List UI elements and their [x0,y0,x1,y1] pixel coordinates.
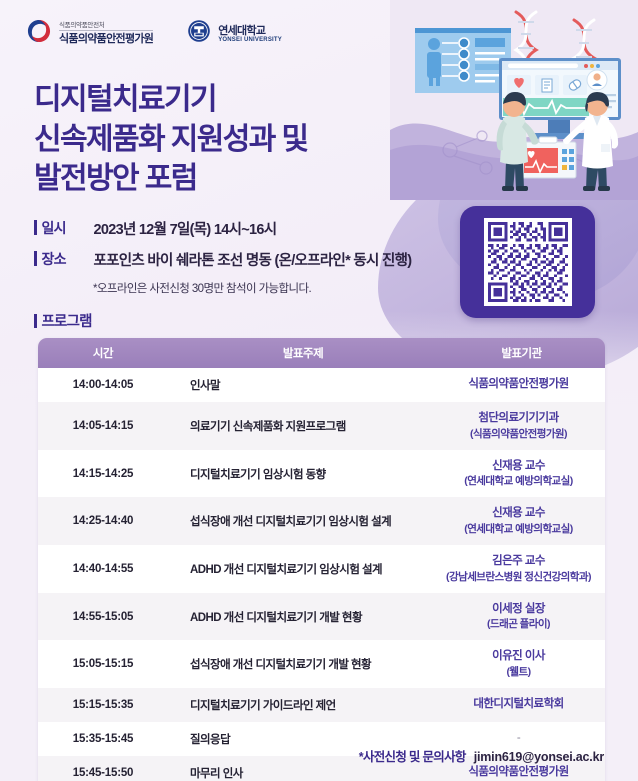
cell-org: 식품의약품안전평가원 [438,368,605,402]
taegeuk-icon [26,18,52,49]
contact-footer: *사전신청 및 문의사항 jimin619@yonsei.ac.kr [359,746,604,765]
program-heading-label: 프로그램 [42,310,92,331]
cell-org: 이세정 실장 (드래곤 플라이) [438,593,605,641]
cell-org-sub: (식품의약품안전평가원) [438,427,599,441]
forum-poster: 식품의약품안전처 식품의약품안전평가원 연세대학교 YONSEI UNIVERS… [0,0,638,781]
title-line-1: 디지털치료기기 [34,80,307,120]
cell-time: 14:55-15:05 [38,593,168,641]
yonsei-logo-entext: YONSEI UNIVERSITY [218,37,282,44]
column-header-time: 시간 [38,338,168,368]
mfds-logo-maintext: 식품의약품안전평가원 [59,31,153,45]
table-row: 14:15-14:25 디지털치료기기 임상시험 동향 신재용 교수 (연세대학… [38,450,605,498]
bullet-bar-icon [34,220,37,235]
cell-org-sub: (연세대학교 예방의학교실) [438,474,599,488]
cell-time: 15:05-15:15 [38,640,168,688]
program-heading: 프로그램 [34,310,92,331]
cell-org-sub: (드래곤 플라이) [438,617,599,631]
cell-topic: 디지털치료기기 임상시험 동향 [168,450,438,498]
program-table: 시간 발표주제 발표기관 14:00-14:05 인사말 식품의약품안전평가원 … [38,338,605,781]
cell-topic: ADHD 개선 디지털치료기기 개발 현황 [168,593,438,641]
cell-org-sub: (강남세브란스병원 정신건강의학과) [438,570,599,584]
cell-org: 김은주 교수 (강남세브란스병원 정신건강의학과) [438,545,605,593]
cell-time: 14:25-14:40 [38,497,168,545]
event-venue-value: 포포인츠 바이 쉐라톤 조선 명동 (온/오프라인* 동시 진행) [94,249,412,270]
cell-org-main: - [517,732,520,744]
program-table-body: 14:00-14:05 인사말 식품의약품안전평가원 14:05-14:15 의… [38,368,605,781]
table-row: 14:05-14:15 의료기기 신속제품화 지원프로그램 첨단의료기기기과 (… [38,402,605,450]
bullet-bar-icon [34,251,37,266]
column-header-org: 발표기관 [438,338,605,368]
cell-topic: 디지털치료기기 가이드라인 제언 [168,688,438,722]
cell-time: 14:05-14:15 [38,402,168,450]
cell-org-sub: (웰트) [438,665,599,679]
cell-time: 15:45-15:50 [38,756,168,781]
cell-org-sub: (연세대학교 예방의학교실) [438,522,599,536]
contact-email[interactable]: jimin619@yonsei.ac.kr [474,750,604,764]
column-header-topic: 발표주제 [168,338,438,368]
cell-org: 첨단의료기기기과 (식품의약품안전평가원) [438,402,605,450]
mfds-logo: 식품의약품안전처 식품의약품안전평가원 [26,18,153,49]
yonsei-logo: 연세대학교 YONSEI UNIVERSITY [187,19,282,48]
logo-bar: 식품의약품안전처 식품의약품안전평가원 연세대학교 YONSEI UNIVERS… [26,18,282,49]
yonsei-logo-maintext: 연세대학교 [218,23,282,37]
cell-topic: 섭식장애 개선 디지털치료기기 개발 현황 [168,640,438,688]
cell-org-main: 대한디지털치료학회 [473,698,563,710]
table-row: 14:40-14:55 ADHD 개선 디지털치료기기 임상시험 설계 김은주 … [38,545,605,593]
table-row: 14:25-14:40 섭식장애 개선 디지털치료기기 임상시험 설계 신재용 … [38,497,605,545]
table-header-row: 시간 발표주제 발표기관 [38,338,605,368]
cell-topic: ADHD 개선 디지털치료기기 임상시험 설계 [168,545,438,593]
cell-org-main: 식품의약품안전평가원 [468,766,568,778]
cell-org-main: 이세정 실장 [492,603,545,615]
cell-org-main: 첨단의료기기기과 [478,412,558,424]
title-line-2: 신속제품화 지원성과 및 [34,120,307,160]
event-date-label: 일시 [42,218,94,238]
digital-healthcare-illustration [390,0,638,200]
cell-org-main: 이유진 이사 [492,650,545,662]
table-row: 14:00-14:05 인사말 식품의약품안전평가원 [38,368,605,402]
yonsei-shield-icon [187,19,211,48]
title-line-3: 발전방안 포럼 [34,159,307,199]
cell-time: 15:15-15:35 [38,688,168,722]
cell-topic: 의료기기 신속제품화 지원프로그램 [168,402,438,450]
qr-code-image [484,218,572,306]
contact-label: *사전신청 및 문의사항 [359,746,466,765]
table-row: 15:15-15:35 디지털치료기기 가이드라인 제언 대한디지털치료학회 [38,688,605,722]
cell-org-main: 김은주 교수 [492,555,545,567]
cell-time: 14:40-14:55 [38,545,168,593]
cell-topic: 섭식장애 개선 디지털치료기기 임상시험 설계 [168,497,438,545]
event-venue-row: 장소 포포인츠 바이 쉐라톤 조선 명동 (온/오프라인* 동시 진행) [34,249,411,270]
event-venue-label: 장소 [42,249,94,269]
cell-org: 신재용 교수 (연세대학교 예방의학교실) [438,497,605,545]
cell-org-main: 신재용 교수 [492,460,545,472]
table-row: 14:55-15:05 ADHD 개선 디지털치료기기 개발 현황 이세정 실장… [38,593,605,641]
event-date-value: 2023년 12월 7일(목) 14시~16시 [94,218,277,239]
cell-org: 대한디지털치료학회 [438,688,605,722]
cell-time: 14:15-14:25 [38,450,168,498]
cell-org: 신재용 교수 (연세대학교 예방의학교실) [438,450,605,498]
event-note: *오프라인은 사전신청 30명만 참석이 가능합니다. [93,280,411,296]
cell-org: 이유진 이사 (웰트) [438,640,605,688]
registration-qr-code[interactable] [460,206,595,318]
event-date-row: 일시 2023년 12월 7일(목) 14시~16시 [34,218,411,239]
mfds-logo-subtext: 식품의약품안전처 [59,22,153,32]
cell-topic: 인사말 [168,368,438,402]
event-info: 일시 2023년 12월 7일(목) 14시~16시 장소 포포인츠 바이 쉐라… [34,218,411,296]
table-row: 15:05-15:15 섭식장애 개선 디지털치료기기 개발 현황 이유진 이사… [38,640,605,688]
bullet-bar-icon [34,314,37,328]
cell-org-main: 신재용 교수 [492,507,545,519]
cell-org-main: 식품의약품안전평가원 [468,378,568,390]
cell-time: 14:00-14:05 [38,368,168,402]
cell-time: 15:35-15:45 [38,722,168,756]
page-title: 디지털치료기기 신속제품화 지원성과 및 발전방안 포럼 [34,80,307,199]
